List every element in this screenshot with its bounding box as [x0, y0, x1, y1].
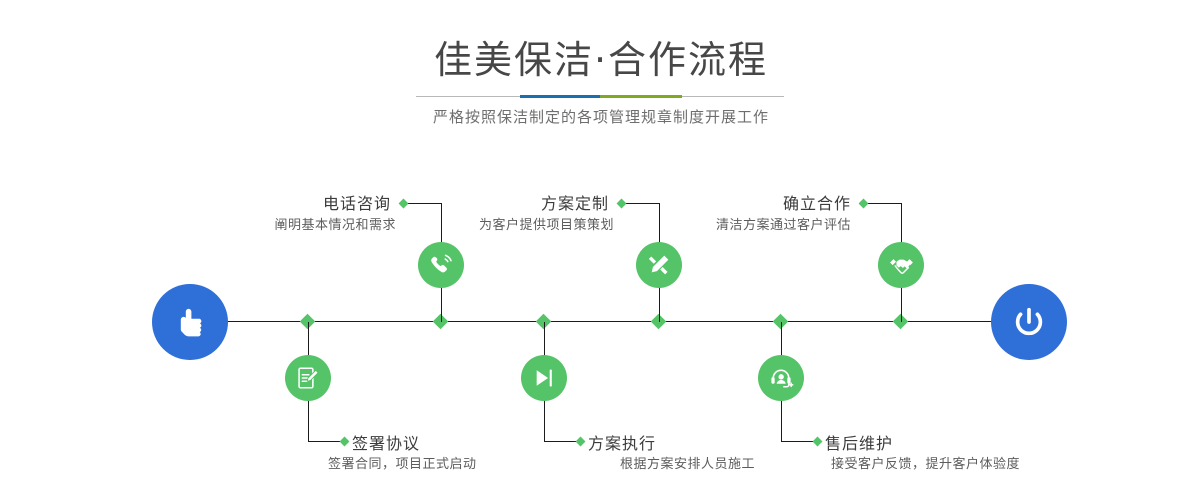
step-title-3: 方案执行 — [588, 430, 656, 454]
divider-blue-segment — [520, 95, 600, 98]
step-desc-6: 清洁方案通过客户评估 — [700, 214, 851, 233]
connector-horizontal-step-5 — [781, 441, 816, 442]
connector-dot-step-2 — [399, 199, 409, 209]
headset-support-icon — [768, 365, 794, 391]
timeline-end-node — [991, 284, 1067, 360]
connector-dot-step-5 — [813, 437, 823, 447]
flow-diagram-canvas: 佳美保洁·合作流程 严格按照保洁制定的各项管理规章制度开展工作 — [0, 0, 1202, 502]
step-title-2: 电话咨询 — [248, 190, 391, 214]
step-title-5: 售后维护 — [825, 430, 893, 454]
step-node-5 — [758, 355, 804, 401]
step-node-3 — [521, 355, 567, 401]
document-edit-icon — [295, 365, 321, 391]
step-desc-2: 阐明基本情况和需求 — [228, 214, 396, 233]
connector-dot-step-3 — [576, 437, 586, 447]
step-desc-1: 签署合同，项目正式启动 — [328, 453, 477, 472]
step-title-1: 签署协议 — [352, 430, 420, 454]
step-desc-3: 根据方案安排人员施工 — [620, 453, 755, 472]
pencil-ruler-icon — [646, 252, 672, 278]
connector-horizontal-step-6 — [866, 203, 901, 204]
connector-dot-step-1 — [340, 437, 350, 447]
divider-green-segment — [600, 95, 682, 98]
connector-horizontal-step-4 — [624, 203, 659, 204]
step-node-2 — [418, 242, 464, 288]
connector-horizontal-step-1 — [308, 441, 343, 442]
pointing-hand-icon — [169, 301, 211, 343]
step-node-6 — [878, 242, 924, 288]
step-desc-4: 为客户提供项目策策划 — [440, 214, 614, 233]
step-node-1 — [285, 355, 331, 401]
step-title-6: 确立合作 — [708, 190, 851, 214]
timeline-start-node — [152, 284, 228, 360]
phone-call-icon — [428, 252, 455, 279]
connector-dot-step-6 — [859, 199, 869, 209]
play-forward-icon — [531, 365, 557, 391]
title-divider — [416, 95, 784, 98]
page-subtitle: 严格按照保洁制定的各项管理规章制度开展工作 — [0, 106, 1202, 127]
handshake-icon — [888, 252, 915, 279]
connector-horizontal-step-2 — [406, 203, 441, 204]
power-button-icon — [1008, 301, 1050, 343]
step-desc-5: 接受客户反馈，提升客户体验度 — [831, 453, 1020, 472]
step-node-4 — [636, 242, 682, 288]
connector-dot-step-4 — [617, 199, 627, 209]
step-title-4: 方案定制 — [466, 190, 609, 214]
connector-horizontal-step-3 — [544, 441, 579, 442]
page-title: 佳美保洁·合作流程 — [0, 38, 1202, 82]
